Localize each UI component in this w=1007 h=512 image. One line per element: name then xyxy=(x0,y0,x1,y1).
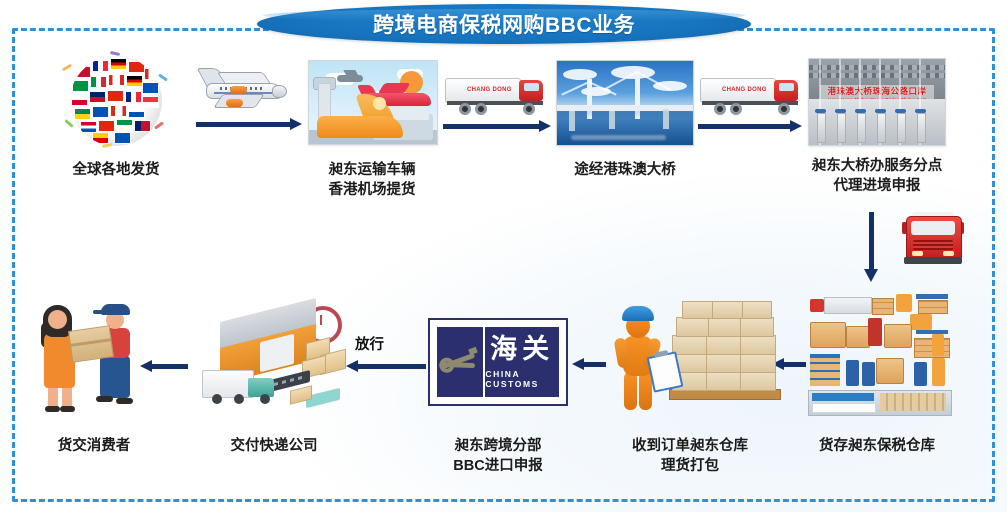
connector-bridge-to-office xyxy=(698,122,802,131)
customs-sign-english: CHINA CUSTOMS xyxy=(485,369,559,389)
airport-photo-icon xyxy=(308,60,438,145)
truck-front-icon xyxy=(902,212,964,270)
label-consumer: 货交消费者 xyxy=(26,436,162,456)
label-customs-declaration: 昶东跨境分部 BBC进口申报 xyxy=(420,436,576,476)
china-customs-sign-icon: 海关 CHINA CUSTOMS xyxy=(428,318,568,406)
label-bridge-office: 昶东大桥办服务分点 代理进境申报 xyxy=(796,156,958,196)
connector-label-release: 放行 xyxy=(355,333,384,354)
connector-office-to-bonded-warehouse xyxy=(866,212,877,282)
consumer-handoff-icon xyxy=(32,302,152,414)
customs-emblem-icon xyxy=(437,342,484,382)
globe-flags-icon xyxy=(62,52,174,150)
connector-customs-to-courier xyxy=(346,362,426,371)
page-title: 跨境电商保税网购BBC业务 xyxy=(373,9,635,39)
label-order-picking: 收到订单昶东仓库 理货打包 xyxy=(600,436,780,476)
courier-warehouse-icon xyxy=(198,300,348,408)
diagram-canvas: 跨境电商保税网购BBC业务 xyxy=(0,0,1007,512)
label-courier: 交付快递公司 xyxy=(196,436,352,456)
truck-side-icon: CHANG DONG xyxy=(445,76,549,118)
label-origin: 全球各地发货 xyxy=(40,160,192,180)
port-checkpoint-photo-icon: 港珠澳大桥珠海公路口岸 Hong Kong-Zhuhai-Macao Bridg… xyxy=(808,58,946,146)
node-origin xyxy=(62,52,174,150)
connector-picking-to-customs xyxy=(572,360,606,369)
connector-origin-to-hk-airport xyxy=(196,120,302,129)
label-bonded-warehouse: 货存昶东保税仓库 xyxy=(794,436,960,456)
connector-hk-airport-to-bridge xyxy=(443,122,551,131)
connector-bonded-to-picking xyxy=(772,360,806,369)
warehouse-worker-pallet-icon xyxy=(606,296,776,414)
truck-side-icon-2: CHANG DONG xyxy=(700,76,804,118)
diagram-title-banner: 跨境电商保税网购BBC业务 xyxy=(257,4,751,44)
label-bridge: 途经港珠澳大桥 xyxy=(546,160,704,180)
label-hk-airport: 昶东运输车辆 香港机场提货 xyxy=(296,160,448,200)
bridge-photo-icon xyxy=(556,60,694,146)
airplane-icon xyxy=(200,66,286,114)
customs-sign-chinese: 海关 xyxy=(490,335,554,365)
warehouse-collage-icon xyxy=(806,292,952,416)
